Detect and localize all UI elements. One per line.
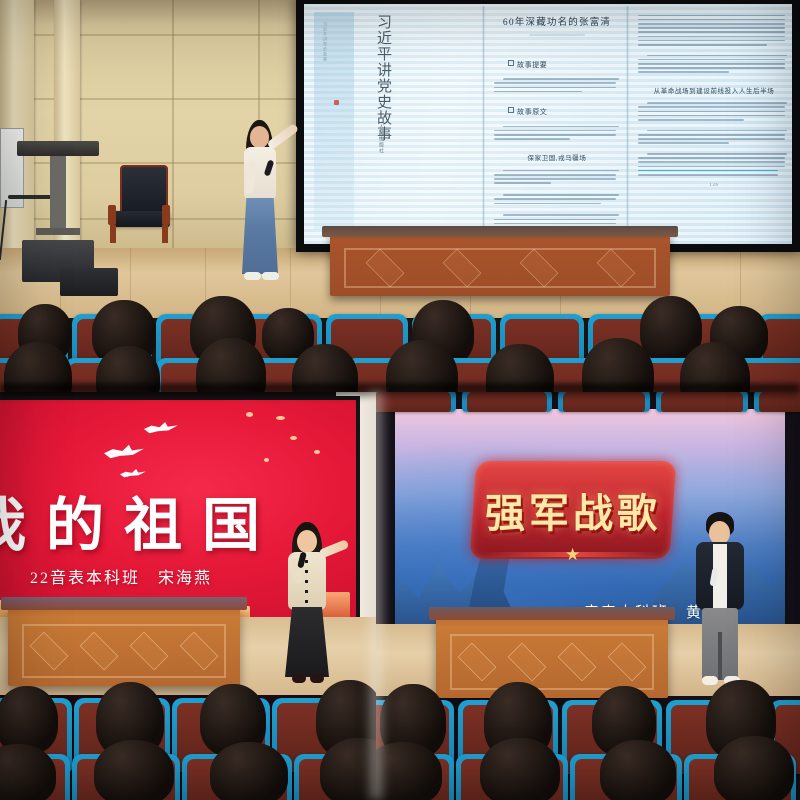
- stage-armchair: [106, 165, 172, 241]
- page-subheading-2: 从革命战场到建设前线投入人生后半场: [638, 85, 790, 95]
- section-heading-2: 故事原文: [508, 107, 620, 117]
- panel-top-lecture: 习近平讲党史故事 习近平讲党史故事 人民出版社 60年深藏功名的张富清 故事提要: [0, 0, 800, 392]
- song-title-red-screen: 我的祖国: [0, 478, 280, 562]
- page-number: 126: [638, 183, 790, 188]
- page-heading: 60年深藏功名的张富清: [494, 14, 620, 28]
- book-vertical-title: 习近平讲党史故事: [360, 14, 394, 142]
- performer-bottom-right: [692, 512, 752, 702]
- panel-bottom-right-performance: 强军战歌 ★ 23音表本科班 黄泓盛: [376, 392, 800, 800]
- red-seal-mark: [334, 100, 339, 105]
- book-spine-band: [314, 12, 354, 230]
- song-logo-badge: 强军战歌 ★: [473, 461, 673, 559]
- section-heading-1: 故事提要: [508, 60, 620, 70]
- loudspeaker-box-secondary: [60, 268, 118, 296]
- projection-screen-top: 习近平讲党史故事 习近平讲党史故事 人民出版社 60年深藏功名的张富清 故事提要: [296, 0, 800, 252]
- podium-table-top: [330, 232, 670, 296]
- lectern: [50, 155, 66, 230]
- performer-line-red-screen: 22音表本科班 宋海燕: [30, 564, 212, 588]
- collage-seam-horizontal: [0, 384, 800, 398]
- photo-collage: 习近平讲党史故事 习近平讲党史故事 人民出版社 60年深藏功名的张富清 故事提要: [0, 0, 800, 800]
- podium-table-bottom-left: [8, 606, 240, 686]
- performer-bottom-left: [280, 522, 338, 700]
- page-subheading-1: 保家卫国,戎马疆场: [494, 152, 620, 162]
- presenter-top: [236, 120, 288, 295]
- book-spine-mini-title: 习近平讲党史故事: [322, 22, 328, 62]
- book-publisher-label: 人民出版社: [378, 124, 385, 154]
- projected-book-page: 习近平讲党史故事 习近平讲党史故事 人民出版社 60年深藏功名的张富清 故事提要: [304, 4, 792, 244]
- collage-seam-vertical: [366, 392, 386, 800]
- podium-table-bottom-right: [436, 616, 668, 698]
- panel-bottom-left-performance: 我的祖国 22音表本科班 宋海燕: [0, 392, 376, 800]
